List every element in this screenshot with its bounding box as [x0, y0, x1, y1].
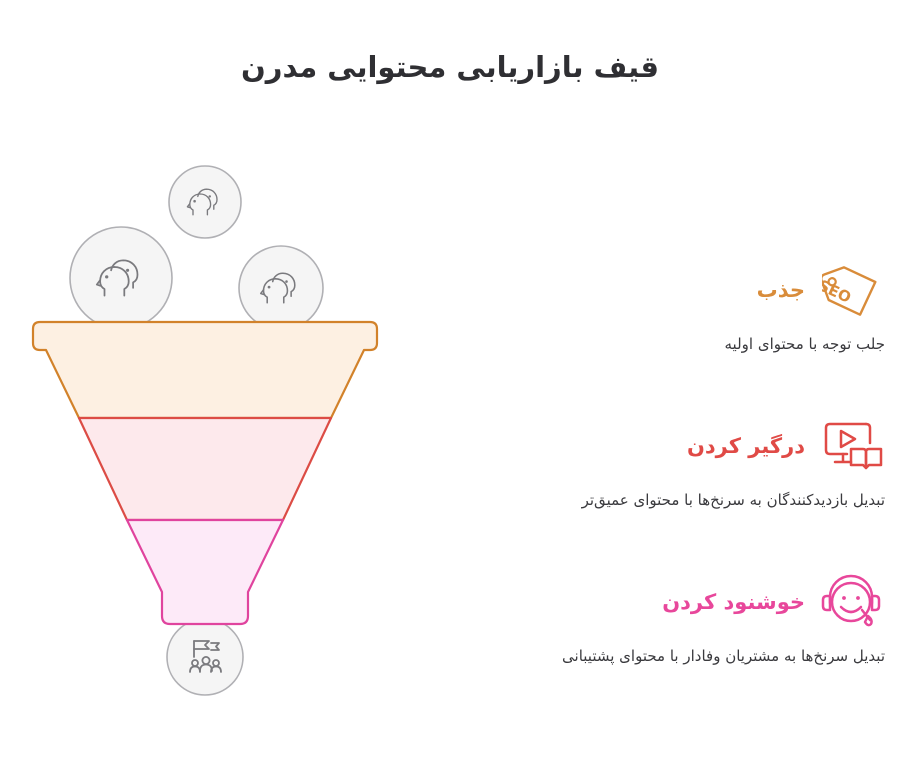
- headset-smiley-icon: [819, 570, 885, 636]
- stage-description-delight: تبدیل سرنخ‌ها به مشتریان وفادار با محتوا…: [415, 645, 885, 668]
- funnel-input-bubble-left: [70, 227, 172, 329]
- stage-item-engage[interactable]: درگیر کردن تبدیل بازدیدکنندگان به سرنخ‌ه…: [415, 411, 885, 521]
- stage-title-attract: جذب: [757, 278, 805, 303]
- stage-item-attract[interactable]: SEO جذب جلب توجه با محتوای اولیه: [415, 255, 885, 365]
- funnel-output-bubble: [167, 619, 243, 695]
- funnel-segment-delight: [127, 520, 283, 624]
- stage-header-attract: SEO جذب: [415, 255, 885, 327]
- stage-description-engage: تبدیل بازدیدکنندگان به سرنخ‌ها با محتوای…: [415, 489, 885, 512]
- infographic-canvas: قیف بازاریابی محتوایی مدرن: [0, 0, 900, 778]
- funnel-input-bubble-right: [239, 246, 323, 330]
- stage-header-engage: درگیر کردن: [415, 411, 885, 483]
- funnel-svg: [0, 150, 420, 710]
- stage-title-engage: درگیر کردن: [687, 434, 805, 459]
- stage-title-delight: خوشنود کردن: [662, 590, 805, 615]
- funnel-input-bubble-top: [169, 166, 241, 238]
- svg-text:SEO: SEO: [822, 276, 854, 307]
- page-title: قیف بازاریابی محتوایی مدرن: [0, 48, 900, 87]
- funnel-segment-attract: [33, 322, 377, 418]
- funnel-segment-engage: [79, 418, 331, 520]
- seo-tag-icon: SEO: [819, 258, 885, 324]
- funnel-diagram: [0, 150, 420, 710]
- stage-list: SEO جذب جلب توجه با محتوای اولیه: [415, 255, 885, 723]
- video-book-icon: [819, 414, 885, 480]
- stage-description-attract: جلب توجه با محتوای اولیه: [415, 333, 885, 356]
- stage-item-delight[interactable]: خوشنود کردن تبدیل سرنخ‌ها به مشتریان وفا…: [415, 567, 885, 677]
- stage-header-delight: خوشنود کردن: [415, 567, 885, 639]
